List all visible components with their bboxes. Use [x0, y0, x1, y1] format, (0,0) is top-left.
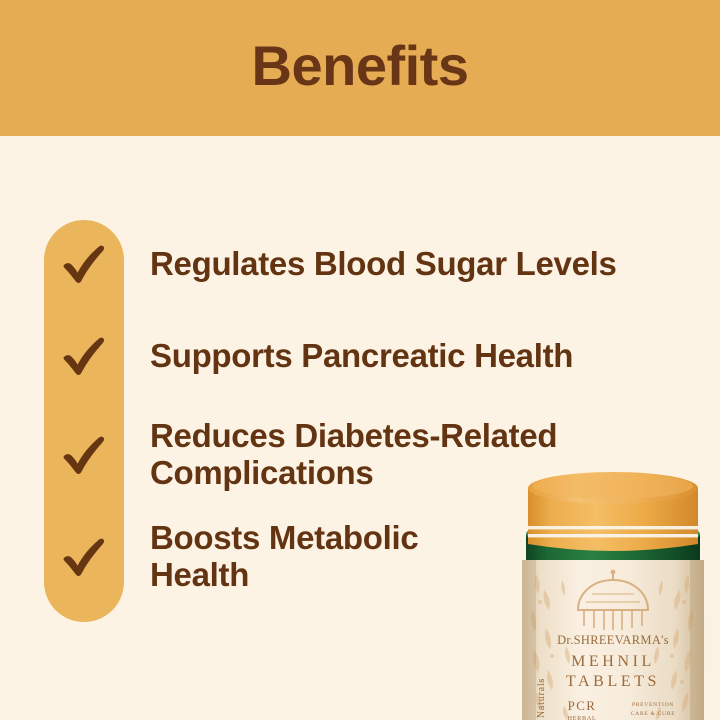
- bottle-cap: [528, 472, 698, 551]
- brand-name: Dr.SHREEVARMA's: [557, 633, 669, 647]
- list-item: Supports Pancreatic Health: [44, 332, 573, 380]
- product-name-line1: MEHNIL: [571, 653, 655, 670]
- checkmark-icon: [60, 533, 108, 581]
- header-banner: Benefits: [0, 0, 720, 136]
- check-cell: [44, 431, 124, 479]
- check-cell: [44, 332, 124, 380]
- check-cell: [44, 533, 124, 581]
- list-item: Regulates Blood Sugar Levels: [44, 240, 617, 288]
- claim-prevention: PREVENTION: [632, 702, 674, 708]
- checkmark-icon: [60, 332, 108, 380]
- bottle-label: Dr.SHREEVARMA's MEHNIL TABLETS PCR HERBA…: [522, 560, 704, 720]
- certification-sub1: HERBAL: [568, 715, 597, 720]
- list-item-label: Boosts Metabolic Health: [150, 520, 418, 594]
- checkmark-icon: [60, 240, 108, 288]
- list-item-label: Regulates Blood Sugar Levels: [150, 246, 617, 283]
- certification-label: PCR: [568, 698, 597, 713]
- checkmark-icon: [60, 431, 108, 479]
- list-item-label: Supports Pancreatic Health: [150, 338, 573, 375]
- label-side-text: Naturals: [536, 678, 547, 718]
- product-name-line2: TABLETS: [566, 673, 660, 690]
- product-bottle: Dr.SHREEVARMA's MEHNIL TABLETS PCR HERBA…: [506, 470, 720, 720]
- claim-care-cure: CARE & CURE: [631, 711, 676, 717]
- list-item: Boosts Metabolic Health: [44, 520, 418, 594]
- list-item-label: Reduces Diabetes-Related Complications: [150, 418, 557, 492]
- page-title: Benefits: [252, 38, 469, 98]
- check-cell: [44, 240, 124, 288]
- benefits-infographic: Benefits Regulates Blood Sugar Levels: [0, 0, 720, 720]
- list-item: Reduces Diabetes-Related Complications: [44, 418, 557, 492]
